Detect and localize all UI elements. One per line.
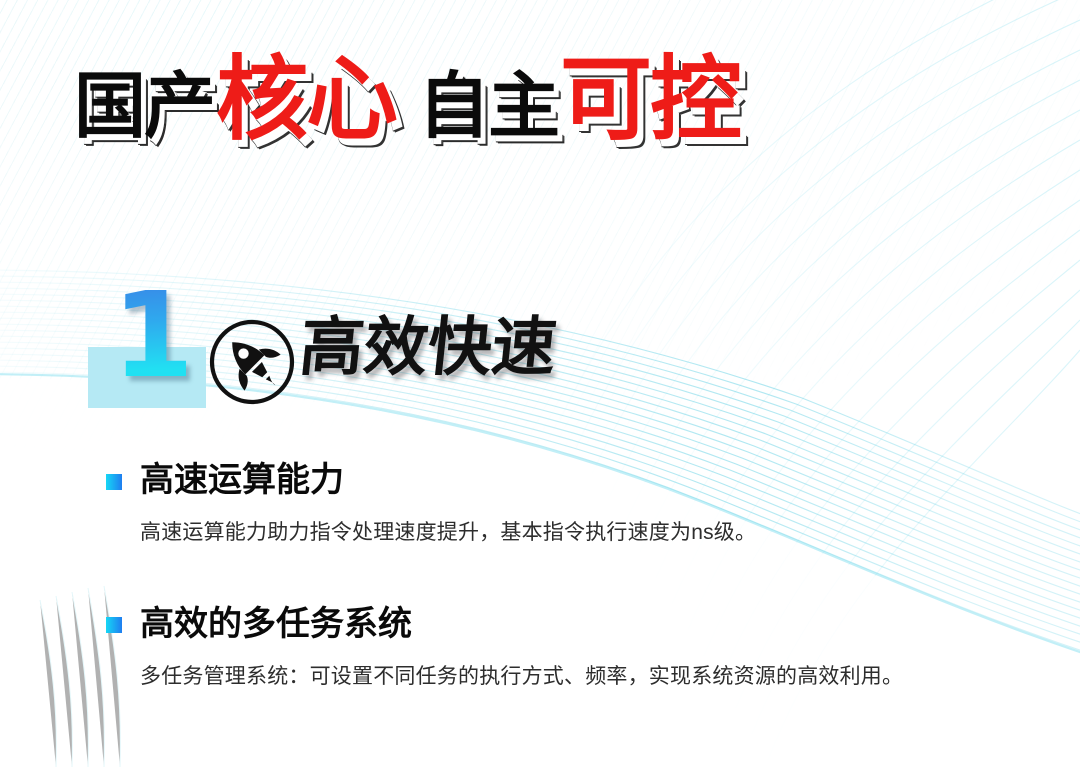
title-segment-hexin: 核心	[216, 54, 396, 146]
bullet-description: 多任务管理系统：可设置不同任务的执行方式、频率，实现系统资源的高效利用。	[0, 662, 1080, 691]
bullet-title: 高速运算能力	[140, 462, 344, 499]
title-segment-guochan: 国产	[74, 70, 214, 142]
bullet-headline-row: 高速运算能力	[0, 462, 1080, 499]
section-heading: 高效快速	[297, 316, 560, 380]
bullet-description: 高速运算能力助力指令处理速度提升，基本指令执行速度为ns级。	[0, 518, 1080, 547]
slide-canvas: 国产 核心 自主 可控 1 高效快速	[0, 0, 1080, 767]
list-item: 高速运算能力 高速运算能力助力指令处理速度提升，基本指令执行速度为ns级。	[0, 462, 1080, 548]
title-segment-zizhu: 自主	[418, 70, 558, 142]
title-segment-kekong: 可控	[560, 54, 740, 146]
bullet-headline-row: 高效的多任务系统	[0, 606, 1080, 643]
page-title: 国产 核心 自主 可控	[74, 54, 742, 146]
rocket-icon	[208, 318, 296, 406]
list-item: 高效的多任务系统 多任务管理系统：可设置不同任务的执行方式、频率，实现系统资源的…	[0, 606, 1080, 692]
bullet-list: 高速运算能力 高速运算能力助力指令处理速度提升，基本指令执行速度为ns级。 高效…	[0, 462, 1080, 750]
square-bullet-icon	[106, 617, 122, 633]
section-number: 1	[112, 276, 194, 394]
square-bullet-icon	[106, 474, 122, 490]
bullet-title: 高效的多任务系统	[140, 606, 412, 643]
